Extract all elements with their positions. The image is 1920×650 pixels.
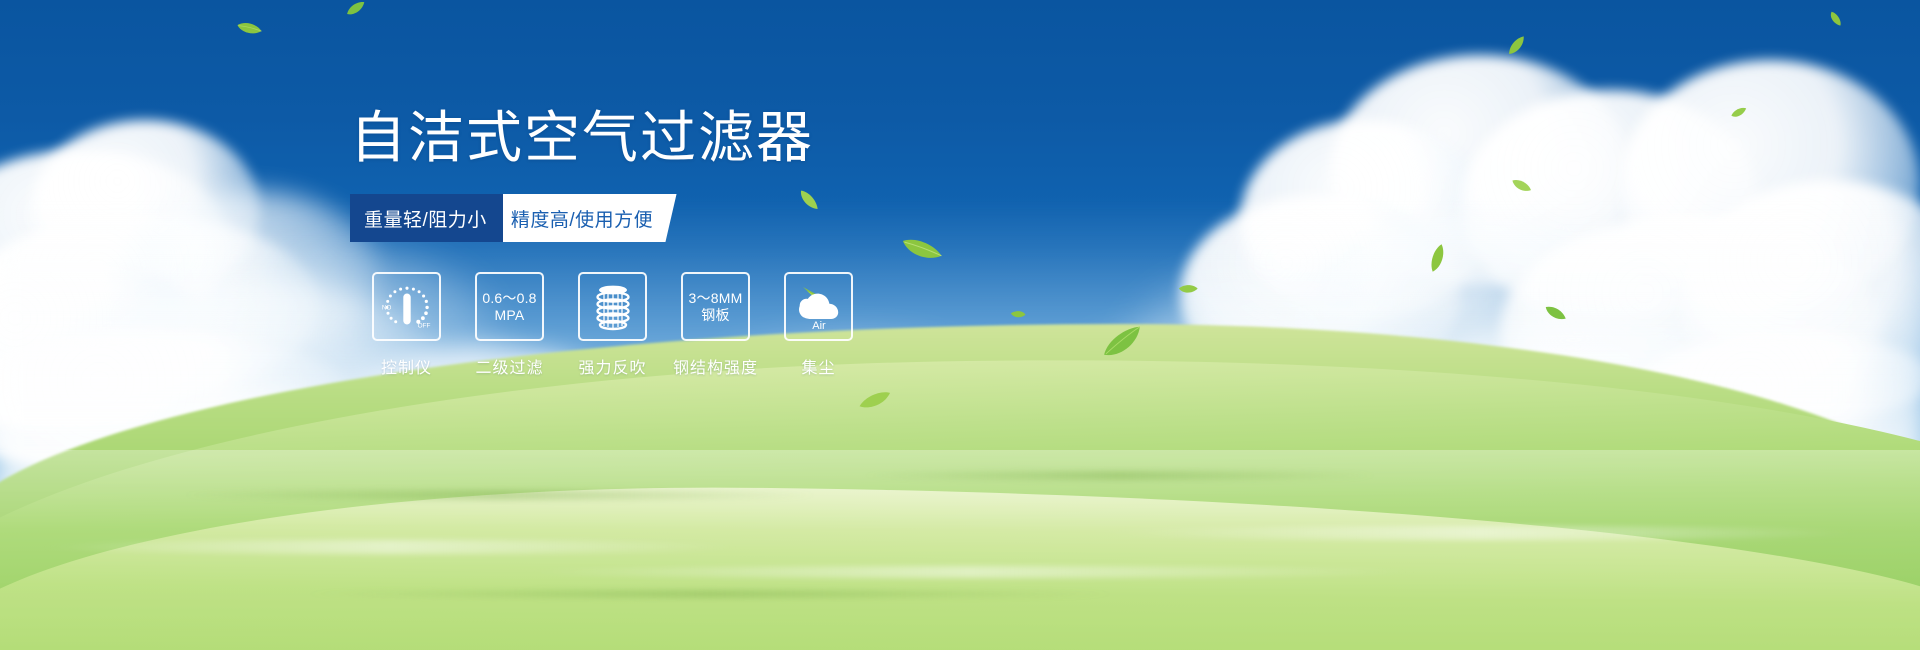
feature-label: 集尘 bbox=[801, 354, 835, 378]
hero-banner: 自洁式空气过滤器 重量轻/阻力小 精度高/使用方便 bbox=[0, 0, 1920, 650]
control-dial-icon: NO OFF bbox=[381, 282, 433, 332]
feature-label: 二级过滤 bbox=[475, 354, 543, 378]
tab-label: 精度高/使用方便 bbox=[511, 205, 653, 232]
feature-box: 0.6～0.8 MPA bbox=[475, 272, 544, 341]
pressure-unit: MPA bbox=[482, 307, 536, 324]
feature-tab-group: 重量轻/阻力小 精度高/使用方便 bbox=[350, 194, 672, 242]
leaf-icon bbox=[1729, 106, 1749, 120]
leaf-icon bbox=[1509, 174, 1533, 198]
leaf-icon bbox=[234, 17, 264, 42]
filter-cartridge-icon bbox=[590, 283, 636, 331]
feature-label: 控制仪 bbox=[381, 354, 432, 378]
feature-box: Air bbox=[784, 272, 853, 341]
feature-item-steel-structure-strength[interactable]: 3～8MM 钢板 钢结构强度 bbox=[664, 272, 767, 378]
steel-plate-text-icon: 3～8MM 钢板 bbox=[689, 290, 743, 324]
steel-thickness: 3～8MM bbox=[689, 290, 743, 307]
tab-lightweight-low-resistance[interactable]: 重量轻/阻力小 bbox=[350, 194, 503, 242]
svg-text:NO: NO bbox=[381, 304, 391, 311]
air-label: Air bbox=[812, 320, 826, 331]
leaf-icon bbox=[344, 0, 369, 18]
leaf-icon bbox=[1504, 34, 1531, 58]
leaf-icon bbox=[1177, 281, 1199, 297]
feature-label: 强力反吹 bbox=[578, 354, 646, 378]
feature-box: 3～8MM 钢板 bbox=[681, 272, 750, 341]
leaf-icon bbox=[1827, 9, 1842, 29]
svg-text:OFF: OFF bbox=[417, 322, 430, 329]
air-cloud-icon: Air bbox=[791, 283, 847, 331]
tab-high-precision-easy-use[interactable]: 精度高/使用方便 bbox=[483, 194, 676, 242]
leaf-icon bbox=[1542, 300, 1568, 327]
feature-box: NO OFF bbox=[372, 272, 441, 341]
page-title: 自洁式空气过滤器 bbox=[350, 108, 1070, 167]
feature-icon-row: NO OFF 控制仪 0.6～0.8 MPA 二级过滤 bbox=[355, 272, 1070, 378]
banner-content: 自洁式空气过滤器 重量轻/阻力小 精度高/使用方便 bbox=[350, 108, 1070, 378]
pressure-value: 0.6～0.8 bbox=[482, 290, 536, 307]
pressure-text-icon: 0.6～0.8 MPA bbox=[482, 290, 536, 324]
feature-item-dust-collection[interactable]: Air 集尘 bbox=[767, 272, 870, 378]
feature-label: 钢结构强度 bbox=[673, 354, 758, 378]
leaf-icon bbox=[1424, 242, 1453, 275]
feature-item-strong-backblow[interactable]: 强力反吹 bbox=[561, 272, 664, 378]
steel-material: 钢板 bbox=[689, 307, 743, 324]
feature-item-controller[interactable]: NO OFF 控制仪 bbox=[355, 272, 458, 378]
feature-item-two-stage-filtration[interactable]: 0.6～0.8 MPA 二级过滤 bbox=[458, 272, 561, 378]
feature-box bbox=[578, 272, 647, 341]
tab-label: 重量轻/阻力小 bbox=[364, 205, 487, 232]
